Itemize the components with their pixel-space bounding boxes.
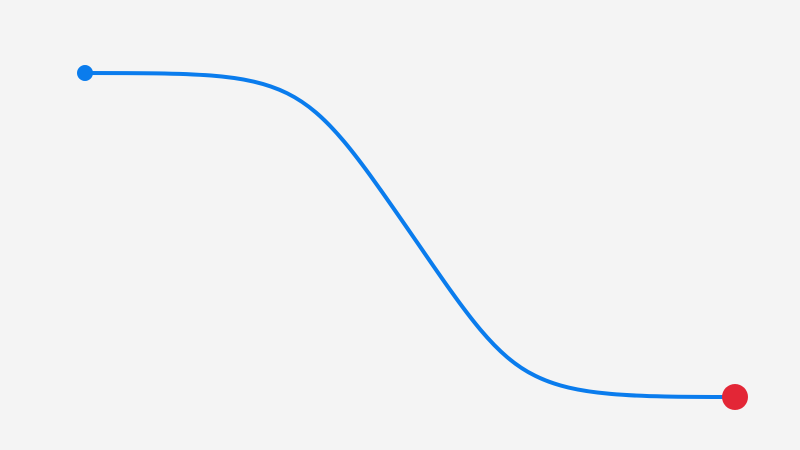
- start-point-handle[interactable]: [77, 65, 93, 81]
- canvas-background: [0, 0, 800, 450]
- end-point-handle[interactable]: [722, 384, 748, 410]
- bezier-canvas[interactable]: [0, 0, 800, 450]
- app-root: MOVE START-END POINTS WITH MOUSE: [0, 0, 800, 450]
